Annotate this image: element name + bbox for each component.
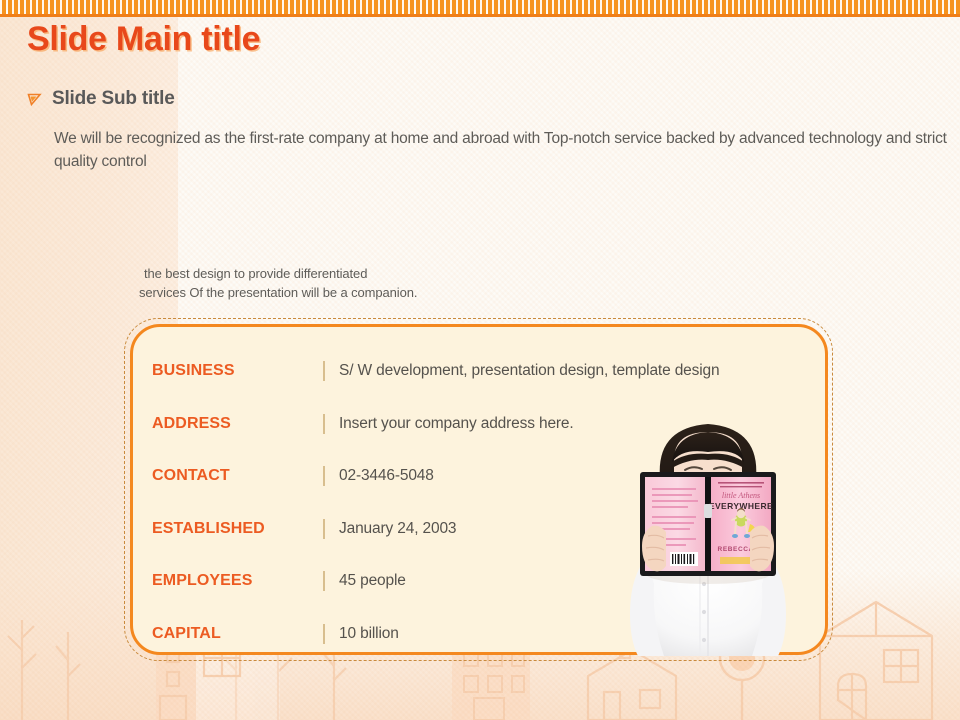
row-separator bbox=[323, 414, 325, 434]
row-value-contact: 02-3446-5048 bbox=[339, 467, 434, 485]
row-separator bbox=[323, 361, 325, 381]
panel-caption: the best design to provide differentiate… bbox=[139, 264, 417, 302]
row-value-capital: 10 billion bbox=[339, 625, 399, 643]
panel-caption-line-1: the best design to provide differentiate… bbox=[139, 264, 417, 283]
row-label-employees: EMPLOYEES bbox=[133, 572, 323, 590]
sub-title-text: Slide Sub title bbox=[52, 88, 175, 110]
svg-text:little Athens: little Athens bbox=[722, 491, 760, 500]
row-separator bbox=[323, 519, 325, 539]
row-separator bbox=[323, 624, 325, 644]
girl-holding-book-photo: little Athens EVERYWHERE REBECCA M. bbox=[608, 408, 808, 656]
row-value-employees: 45 people bbox=[339, 572, 406, 590]
ruler-baseline bbox=[0, 14, 960, 17]
slide-canvas: Slide Main title Slide Sub title We will… bbox=[0, 0, 960, 720]
row-value-business: S/ W development, presentation design, t… bbox=[339, 362, 720, 380]
sub-title-row: Slide Sub title bbox=[27, 88, 175, 110]
row-value-address: Insert your company address here. bbox=[339, 415, 574, 433]
ruler-tick-strip bbox=[0, 0, 960, 17]
row-label-capital: CAPITAL bbox=[133, 625, 323, 643]
flag-triangle-icon bbox=[27, 92, 42, 107]
row-label-address: ADDRESS bbox=[133, 415, 323, 433]
row-value-established: January 24, 2003 bbox=[339, 520, 456, 538]
lead-paragraph: We will be recognized as the first-rate … bbox=[54, 127, 954, 173]
row-label-established: ESTABLISHED bbox=[133, 520, 323, 538]
row-separator bbox=[323, 466, 325, 486]
panel-caption-line-2: services Of the presentation will be a c… bbox=[139, 285, 417, 300]
row-label-business: BUSINESS bbox=[133, 362, 323, 380]
table-row: BUSINESS S/ W development, presentation … bbox=[133, 345, 828, 398]
page-title: Slide Main title bbox=[27, 20, 260, 59]
row-label-contact: CONTACT bbox=[133, 467, 323, 485]
row-separator bbox=[323, 571, 325, 591]
